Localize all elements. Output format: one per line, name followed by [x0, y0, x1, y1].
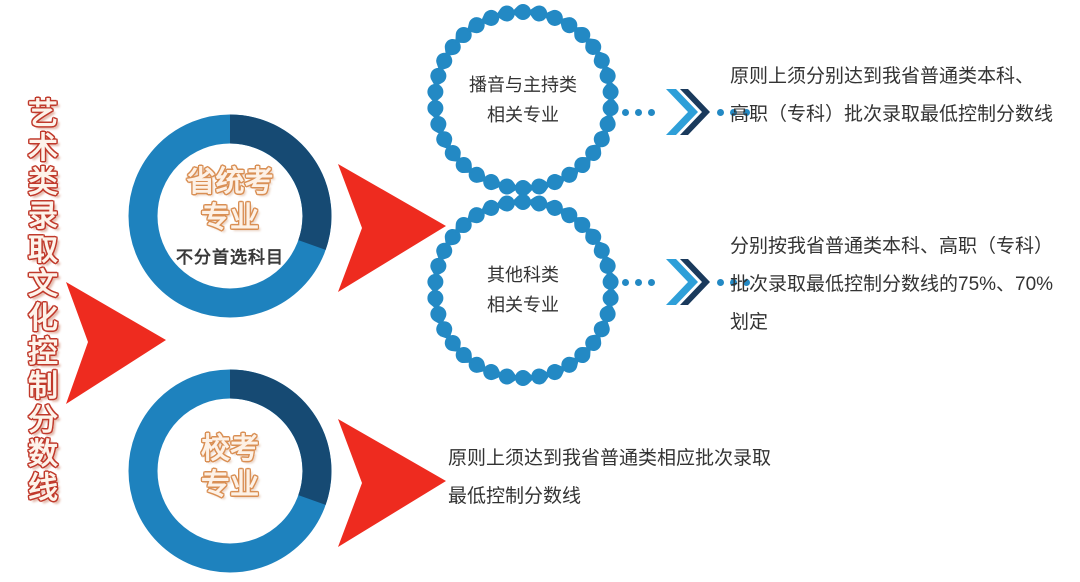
- red-arrow-icon-school: [330, 413, 450, 553]
- description-other-subjects: 分别按我省普通类本科、高职（专科） 批次录取最低控制分数线的75%、70% 划定: [730, 228, 1080, 342]
- page-title-char-10: 数: [28, 438, 58, 472]
- description-broadcasting: 原则上须分别达到我省普通类本科、 高职（专科）批次录取最低控制分数线: [730, 58, 1080, 134]
- description-school-exam: 原则上须达到我省普通类相应批次录取 最低控制分数线: [448, 440, 868, 516]
- page-title-char-3: 录: [28, 200, 58, 234]
- page-title-char-2: 类: [28, 166, 58, 200]
- double-chevron-icon: [662, 86, 710, 138]
- dot-separator-icon: [622, 109, 655, 116]
- category-ring-school-exam: 校考 专业: [126, 367, 334, 575]
- page-title-char-7: 控: [28, 336, 58, 370]
- page-title-char-11: 线: [28, 472, 58, 506]
- major-label: 播音与主持类 相关专业: [425, 2, 621, 198]
- category-title: 校考 专业: [201, 431, 259, 503]
- dot-separator-icon: [622, 279, 655, 286]
- page-title-char-6: 化: [28, 302, 58, 336]
- major-label: 其他科类 相关专业: [425, 192, 621, 388]
- category-ring-province-exam: 省统考 专业 不分首选科目: [126, 112, 334, 320]
- page-title-char-8: 制: [28, 370, 58, 404]
- page-title-char-5: 文: [28, 268, 58, 302]
- page-title-char-0: 艺: [28, 98, 58, 132]
- major-ring-other-subjects: 其他科类 相关专业: [425, 192, 621, 388]
- major-ring-broadcasting: 播音与主持类 相关专业: [425, 2, 621, 198]
- page-title-char-9: 分: [28, 404, 58, 438]
- page-title-char-1: 术: [28, 132, 58, 166]
- double-chevron-icon: [662, 256, 710, 308]
- category-subtitle: 不分首选科目: [176, 243, 284, 268]
- category-title: 省统考 专业: [186, 164, 273, 236]
- page-title-char-4: 取: [28, 234, 58, 268]
- infographic-canvas: 艺术类录取文化控制分数线 省统考 专业 不分首选科目 校考 专业: [0, 0, 1080, 582]
